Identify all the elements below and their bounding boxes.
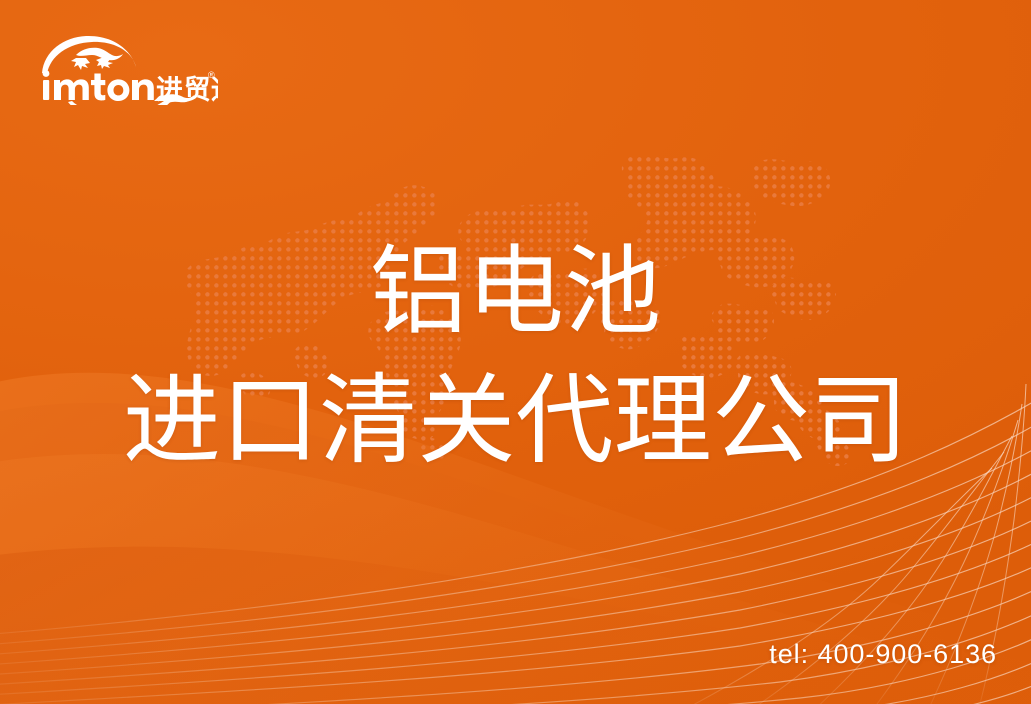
- poster-canvas: 进贸通 ® 铝电池 进口清关代理公司 tel: 400-900-6136: [0, 0, 1031, 704]
- headline-line-1: 铝电池: [0, 228, 1031, 356]
- page-title: 铝电池 进口清关代理公司: [0, 228, 1031, 485]
- headline-line-2: 进口清关代理公司: [0, 356, 1031, 485]
- registered-mark: ®: [208, 70, 215, 80]
- continent-dot-icon: [71, 58, 90, 70]
- brand-logo[interactable]: 进贸通 ®: [38, 33, 218, 103]
- globe-swoosh-logo: 进贸通 ®: [38, 33, 218, 105]
- telephone-text[interactable]: tel: 400-900-6136: [769, 639, 997, 670]
